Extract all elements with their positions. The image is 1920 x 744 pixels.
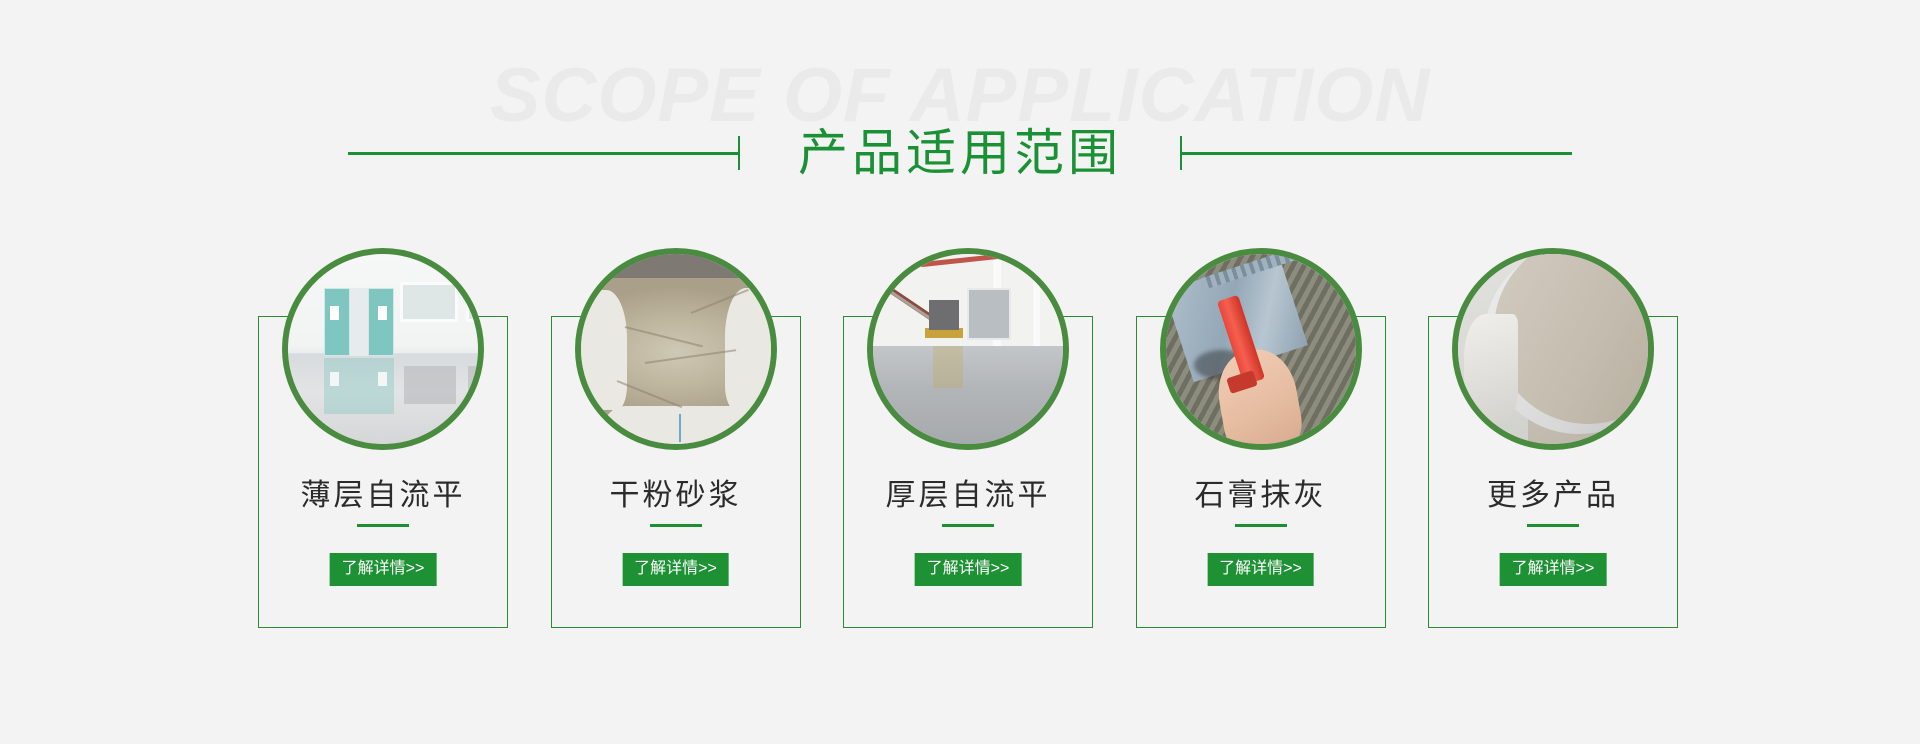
card-image-circle[interactable] bbox=[1160, 248, 1362, 450]
card-label: 干粉砂浆 bbox=[551, 470, 801, 514]
card-label: 厚层自流平 bbox=[843, 470, 1093, 514]
dry-powder-mortar-photo bbox=[581, 254, 771, 444]
card-label-underline bbox=[942, 524, 994, 527]
card-gypsum-plastering[interactable]: 石膏抹灰 了解详情>> bbox=[1136, 248, 1386, 628]
title-rule-right bbox=[1182, 152, 1572, 155]
card-label: 石膏抹灰 bbox=[1136, 470, 1386, 514]
card-label: 更多产品 bbox=[1428, 470, 1678, 514]
card-label-underline bbox=[357, 524, 409, 527]
card-label-underline bbox=[1527, 524, 1579, 527]
detail-button[interactable]: 了解详情>> bbox=[622, 553, 729, 586]
more-products-photo bbox=[1458, 254, 1648, 444]
card-dry-powder-mortar[interactable]: 干粉砂浆 了解详情>> bbox=[551, 248, 801, 628]
page-title: 产品适用范围 bbox=[740, 128, 1180, 178]
title-row: 产品适用范围 bbox=[0, 118, 1920, 188]
card-image-circle[interactable] bbox=[282, 248, 484, 450]
card-label: 薄层自流平 bbox=[258, 470, 508, 514]
thick-layer-self-leveling-floor-photo bbox=[873, 254, 1063, 444]
detail-button[interactable]: 了解详情>> bbox=[915, 553, 1022, 586]
gypsum-plastering-trowel-photo bbox=[1166, 254, 1356, 444]
detail-button[interactable]: 了解详情>> bbox=[1500, 553, 1607, 586]
thin-layer-self-leveling-floor-photo bbox=[288, 254, 478, 444]
card-image-circle[interactable] bbox=[575, 248, 777, 450]
section-header: SCOPE OF APPLICATION 产品适用范围 bbox=[0, 0, 1920, 230]
card-label-underline bbox=[1235, 524, 1287, 527]
application-cards: 薄层自流平 了解详情>> 干粉砂浆 了解详情>> bbox=[258, 248, 1678, 628]
card-label-underline bbox=[650, 524, 702, 527]
title-rule-left bbox=[348, 152, 738, 155]
card-thick-layer-self-leveling[interactable]: 厚层自流平 了解详情>> bbox=[843, 248, 1093, 628]
card-image-circle[interactable] bbox=[867, 248, 1069, 450]
card-image-circle[interactable] bbox=[1452, 248, 1654, 450]
detail-button[interactable]: 了解详情>> bbox=[1207, 553, 1314, 586]
card-more-products[interactable]: 更多产品 了解详情>> bbox=[1428, 248, 1678, 628]
card-thin-layer-self-leveling[interactable]: 薄层自流平 了解详情>> bbox=[258, 248, 508, 628]
detail-button[interactable]: 了解详情>> bbox=[330, 553, 437, 586]
